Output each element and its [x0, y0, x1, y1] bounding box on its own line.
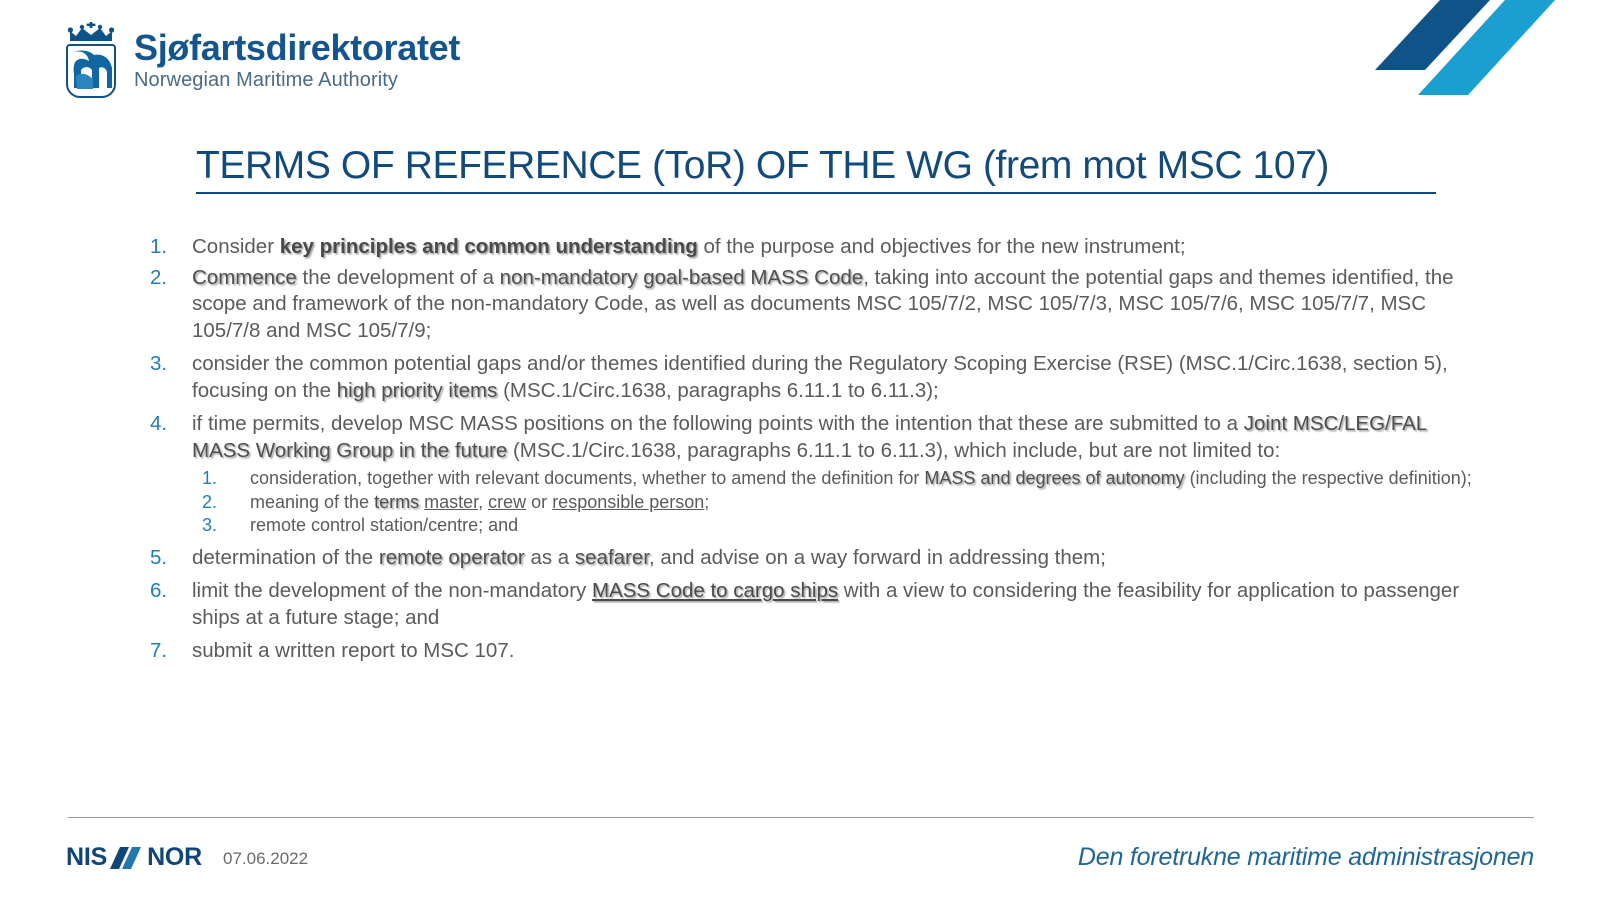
sub-list-marker: 1. [192, 467, 250, 491]
underlined-run: crew [488, 492, 526, 512]
list-item: 1. Consider key principles and common un… [140, 234, 1485, 261]
slide-header: Sjøfartsdirektoratet Norwegian Maritime … [0, 0, 1600, 120]
text-run: meaning of the [250, 492, 374, 512]
list-item-text: determination of the remote operator as … [192, 545, 1485, 572]
list-marker: 2. [140, 265, 192, 292]
list-item-text: Consider key principles and common under… [192, 234, 1485, 261]
list-item: 7. submit a written report to MSC 107. [140, 638, 1485, 665]
emphasis-run: MASS Code to cargo ships [592, 579, 838, 602]
logo-subtitle: Norwegian Maritime Authority [134, 70, 460, 90]
list-item-text: submit a written report to MSC 107. [192, 638, 1485, 665]
sub-list-marker: 2. [192, 491, 250, 515]
text-run: limit the development of the non-mandato… [192, 579, 592, 602]
sub-list-item: 1. consideration, together with relevant… [192, 467, 1485, 491]
spacer [140, 404, 1485, 411]
list-marker: 7. [140, 638, 192, 665]
text-run: (including the respective definition); [1185, 468, 1472, 488]
logo-wordmark: Sjøfartsdirektoratet Norwegian Maritime … [134, 30, 460, 90]
text-run: (MSC.1/Circ.1638, paragraphs 6.11.1 to 6… [507, 439, 1280, 462]
nor-label: NOR [147, 843, 202, 872]
underlined-run: responsible person [552, 492, 704, 512]
sub-list-item-text: consideration, together with relevant do… [250, 467, 1485, 491]
emphasis-run: Commence [192, 266, 297, 289]
footer-tagline: Den foretrukne maritime administrasjonen [1078, 843, 1534, 872]
list-item-text: Commence the development of a non-mandat… [192, 265, 1485, 345]
list-item: 5. determination of the remote operator … [140, 545, 1485, 572]
norwegian-maritime-authority-logo: Sjøfartsdirektoratet Norwegian Maritime … [62, 22, 460, 98]
footer-divider [68, 817, 1534, 818]
list-marker: 1. [140, 234, 192, 261]
text-run: or [526, 492, 552, 512]
text-run: of the purpose and objectives for the ne… [698, 235, 1186, 258]
text-run: if time permits, develop MSC MASS positi… [192, 412, 1244, 435]
text-run: as a [525, 546, 575, 569]
sub-list-item-text: meaning of the terms master, crew or res… [250, 491, 1485, 515]
text-run: the development of a [297, 266, 500, 289]
sub-list-item-text: remote control station/centre; and [250, 514, 1485, 538]
double-slash-icon [110, 847, 144, 869]
page-title: TERMS OF REFERENCE (ToR) OF THE WG (frem… [196, 144, 1436, 194]
text-run: consideration, together with relevant do… [250, 468, 924, 488]
nis-label: NIS [66, 843, 107, 872]
list-item: 6. limit the development of the non-mand… [140, 578, 1485, 631]
list-marker: 3. [140, 351, 192, 378]
sub-list-marker: 3. [192, 514, 250, 538]
footer-date: 07.06.2022 [223, 849, 308, 869]
text-run: , and advise on a way forward in address… [649, 546, 1106, 569]
spacer [140, 571, 1485, 578]
text-run: ; [704, 492, 709, 512]
list-item-text: consider the common potential gaps and/o… [192, 351, 1485, 404]
underlined-run: master [424, 492, 478, 512]
list-item: 4. if time permits, develop MSC MASS pos… [140, 411, 1485, 541]
emphasis-run: key principles and common understanding [280, 235, 698, 258]
list-marker: 6. [140, 578, 192, 605]
spacer [140, 344, 1485, 351]
text-run: (MSC.1/Circ.1638, paragraphs 6.11.1 to 6… [497, 379, 938, 402]
text-run: remote control station/centre; and [250, 515, 518, 535]
slide-footer: NIS NOR 07.06.2022 Den foretrukne mariti… [0, 805, 1600, 900]
list-item: 2. Commence the development of a non-man… [140, 265, 1485, 345]
sub-list: 1. consideration, together with relevant… [192, 467, 1485, 538]
emphasis-run: seafarer [575, 546, 649, 569]
spacer [140, 631, 1485, 638]
text-run: Consider [192, 235, 280, 258]
list-item-text: limit the development of the non-mandato… [192, 578, 1485, 631]
text-run: determination of the [192, 546, 379, 569]
double-slash-decoration [1340, 0, 1600, 110]
emphasis-run: remote operator [379, 546, 525, 569]
emphasis-run: terms [374, 492, 419, 512]
emphasis-run: non-mandatory goal-based MASS Code [500, 266, 864, 289]
list-marker: 4. [140, 411, 192, 438]
crown-shield-icon [62, 22, 122, 98]
list-item: 3. consider the common potential gaps an… [140, 351, 1485, 404]
text-run: , [478, 492, 488, 512]
emphasis-run: MASS and degrees of autonomy [924, 468, 1184, 488]
text-run: submit a written report to MSC 107. [192, 639, 514, 662]
terms-of-reference-list: 1. Consider key principles and common un… [140, 234, 1485, 665]
sub-list-item: 2. meaning of the terms master, crew or … [192, 491, 1485, 515]
sub-list-item: 3. remote control station/centre; and [192, 514, 1485, 538]
list-item-text: if time permits, develop MSC MASS positi… [192, 411, 1485, 541]
list-marker: 5. [140, 545, 192, 572]
shield-icon [66, 44, 116, 98]
nis-nor-logo: NIS NOR [66, 843, 202, 872]
emphasis-run: high priority items [337, 379, 498, 402]
logo-name: Sjøfartsdirektoratet [134, 30, 460, 66]
